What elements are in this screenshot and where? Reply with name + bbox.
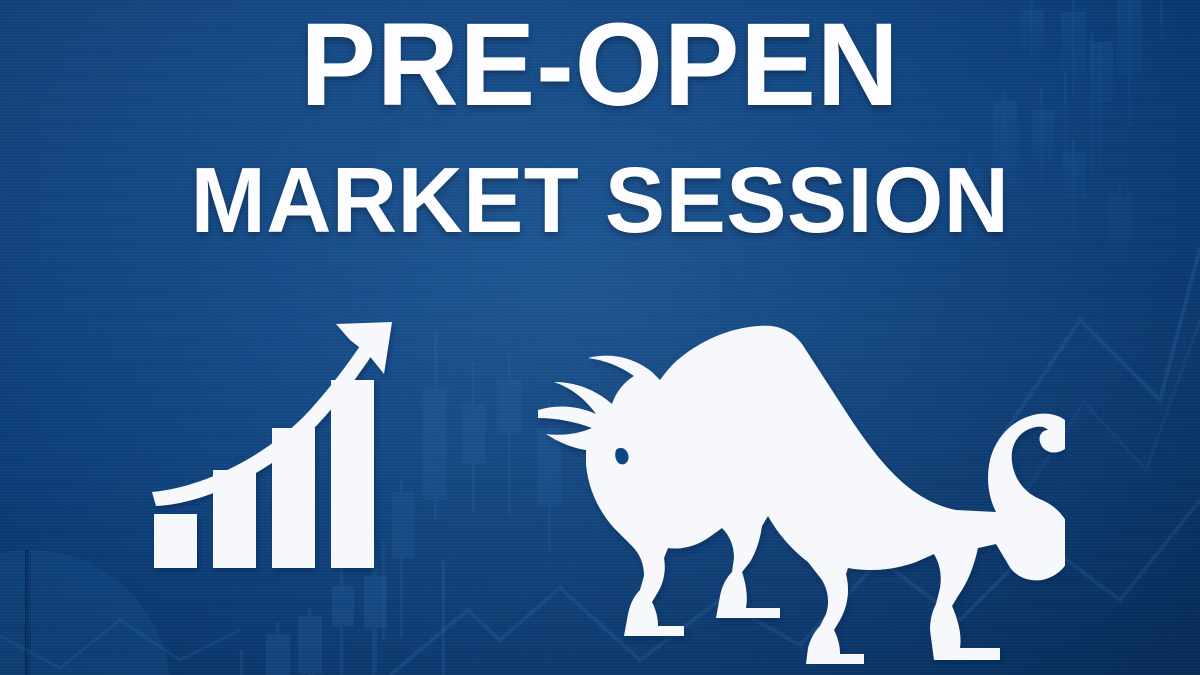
growth-bar-chart-icon [140, 318, 410, 588]
bar-1 [154, 514, 197, 568]
pre-open-market-session-banner: PRE-OPEN MARKET SESSION [0, 0, 1200, 675]
headline-block: PRE-OPEN MARKET SESSION [0, 0, 1200, 247]
charging-bull-icon [520, 300, 1065, 665]
headline-line-2: MARKET SESSION [18, 154, 1182, 247]
bar-4 [331, 380, 374, 568]
headline-line-1: PRE-OPEN [24, 0, 1176, 124]
